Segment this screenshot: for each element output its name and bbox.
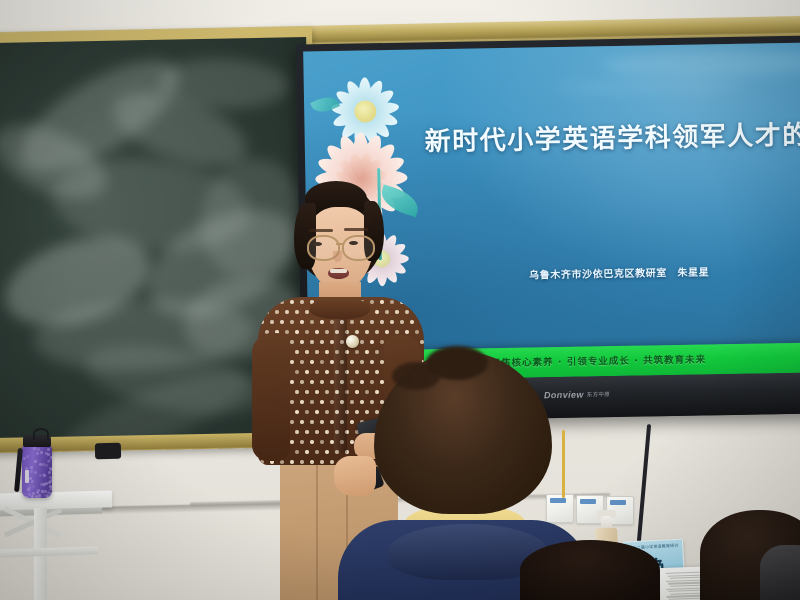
polka-dot [290, 320, 294, 324]
polka-dot [295, 390, 299, 394]
presenter-teeth [330, 269, 347, 273]
polka-dot [320, 320, 324, 324]
polka-dot [305, 390, 309, 394]
polka-dot [380, 300, 384, 304]
polka-dot [300, 440, 304, 444]
polka-dot [295, 330, 299, 334]
eyeglasses-lens-right [342, 235, 375, 261]
glitter-speck [35, 496, 38, 498]
polka-dot [365, 330, 369, 334]
glitter-speck [38, 496, 41, 498]
polka-dot [305, 410, 309, 414]
polka-dot [275, 310, 279, 314]
polka-dot [300, 420, 304, 424]
polka-dot [405, 330, 409, 334]
glitter-speck [23, 457, 26, 460]
polka-dot [375, 330, 379, 334]
polka-dot [300, 460, 304, 464]
glitter-speck [46, 495, 49, 498]
presenter-nose [333, 251, 342, 262]
student-hair-tuft-2 [392, 362, 440, 390]
blouse-placket [334, 313, 347, 453]
glitter-speck [47, 460, 50, 463]
polka-dot [270, 320, 274, 324]
slide-title: 新时代小学英语学科领军人才的成长路径 [424, 113, 800, 159]
polka-dot [400, 320, 404, 324]
polka-dot [290, 400, 294, 404]
glitter-speck [36, 452, 39, 455]
presenter-arm-left [252, 333, 290, 461]
polka-dot [310, 360, 314, 364]
student-hand [334, 456, 376, 496]
polka-dot [315, 350, 319, 354]
polka-dot [315, 430, 319, 434]
glitter-speck [47, 448, 50, 451]
polka-dot [300, 340, 304, 344]
polka-dot [315, 410, 319, 414]
polka-dot [400, 300, 404, 304]
switch-label-icon-3 [610, 500, 626, 505]
flower-center [354, 100, 376, 122]
polka-dot [320, 420, 324, 424]
trouser-pleat-left [316, 461, 318, 600]
presenter-eyebrow-left [309, 229, 333, 232]
polka-dot [355, 330, 359, 334]
polka-dot [360, 320, 364, 324]
glitter-speck [48, 471, 51, 474]
glitter-speck [30, 470, 33, 473]
glitter-speck [25, 496, 28, 498]
polka-dot [360, 340, 364, 344]
polka-dot [310, 340, 314, 344]
polka-dot [300, 300, 304, 304]
blouse-collar [310, 297, 370, 319]
screen-glare-2 [554, 78, 744, 95]
polka-dot [270, 300, 274, 304]
polka-dot [260, 460, 264, 464]
chalk-holder-icon [95, 443, 121, 459]
classroom-photo-scene: 新时代小学英语学科领军人才的成长路径 乌鲁木齐市沙依巴克区教研室 朱星星 聚焦核… [0, 0, 800, 600]
polka-dot [300, 400, 304, 404]
glitter-speck [49, 492, 52, 495]
polka-dot [325, 430, 329, 434]
polka-dot [290, 460, 294, 464]
polka-dot [285, 330, 289, 334]
polka-dot [315, 370, 319, 374]
polka-dot [390, 300, 394, 304]
polka-dot [385, 310, 389, 314]
polka-dot [285, 310, 289, 314]
glitter-speck [40, 451, 43, 454]
polka-dot [290, 300, 294, 304]
polka-dot [325, 390, 329, 394]
polka-dot [260, 320, 264, 324]
polka-dot [300, 360, 304, 364]
glitter-speck [34, 460, 37, 463]
polka-dot [290, 440, 294, 444]
glitter-speck [31, 495, 34, 498]
polka-dot [420, 320, 424, 324]
glitter-speck [41, 490, 44, 493]
glitter-speck [50, 496, 52, 498]
glitter-speck [31, 480, 34, 483]
polka-dot [395, 330, 399, 334]
polka-dot [320, 360, 324, 364]
polka-dot [300, 380, 304, 384]
display-brand-sub: 东方中原 [587, 392, 610, 398]
glitter-speck [48, 481, 51, 484]
polka-dot [370, 340, 374, 344]
polka-dot [315, 450, 319, 454]
polka-dot [370, 300, 374, 304]
glitter-speck [28, 486, 31, 489]
polka-dot [310, 400, 314, 404]
glitter-speck [39, 474, 42, 477]
polka-dot [295, 370, 299, 374]
polka-dot [420, 340, 424, 344]
screen-glare [603, 48, 800, 78]
polka-dot [415, 330, 419, 334]
polka-dot [260, 300, 264, 304]
polka-dot [330, 460, 334, 464]
polka-dot [265, 310, 269, 314]
polka-dot [300, 320, 304, 324]
glitter-speck [45, 464, 48, 467]
polka-dot [320, 400, 324, 404]
polka-dot [305, 330, 309, 334]
water-bottle-handle[interactable] [33, 428, 49, 440]
polka-dot [325, 350, 329, 354]
student-far-right-shoulder [760, 545, 800, 600]
polka-dot [410, 320, 414, 324]
glitter-speck [30, 466, 33, 469]
polka-dot [295, 350, 299, 354]
polka-dot [310, 420, 314, 424]
polka-dot [325, 370, 329, 374]
polka-dot [295, 410, 299, 414]
polka-dot [305, 310, 309, 314]
polka-dot [395, 310, 399, 314]
slide-subtitle: 乌鲁木齐市沙依巴克区教研室 朱星星 [529, 263, 709, 281]
polka-dot [390, 320, 394, 324]
polka-dot [305, 450, 309, 454]
polka-dot [315, 390, 319, 394]
eyeglasses-bridge [336, 243, 344, 245]
polka-dot [290, 360, 294, 364]
polka-dot [385, 330, 389, 334]
polka-dot [290, 380, 294, 384]
glitter-speck [26, 455, 29, 458]
glitter-speck [34, 471, 37, 474]
glitter-speck [36, 491, 39, 494]
polka-dot [320, 340, 324, 344]
polka-dot [380, 340, 384, 344]
polka-dot [415, 310, 419, 314]
polka-dot [320, 440, 324, 444]
polka-dot [295, 430, 299, 434]
polka-dot [305, 370, 309, 374]
polka-dot [290, 420, 294, 424]
polka-dot [305, 430, 309, 434]
polka-dot [310, 460, 314, 464]
polka-dot [320, 380, 324, 384]
polka-dot [310, 380, 314, 384]
polka-dot [325, 330, 329, 334]
polka-dot [305, 350, 309, 354]
glitter-speck [50, 468, 52, 471]
glitter-speck [33, 447, 36, 450]
polka-dot [315, 330, 319, 334]
glitter-speck [50, 487, 52, 490]
presenter-eyebrow-right [344, 228, 368, 231]
polka-dot [375, 310, 379, 314]
polka-dot [295, 310, 299, 314]
polka-dot [350, 320, 354, 324]
brooch-icon [346, 335, 359, 348]
polka-dot [380, 320, 384, 324]
switch-label-icon-2 [580, 499, 596, 504]
glitter-speck [32, 492, 35, 495]
polka-dot [280, 320, 284, 324]
polka-dot [310, 440, 314, 444]
polka-dot [370, 320, 374, 324]
polka-dot [325, 410, 329, 414]
polka-dot [410, 300, 414, 304]
polka-dot [320, 460, 324, 464]
glitter-speck [45, 482, 48, 485]
polka-dot [280, 300, 284, 304]
polka-dot [295, 450, 299, 454]
polka-dot [310, 320, 314, 324]
polka-dot [405, 310, 409, 314]
polka-dot [420, 300, 424, 304]
water-bottle-label [25, 470, 29, 483]
polka-dot [325, 450, 329, 454]
student-left-head [520, 540, 660, 600]
glitter-speck [32, 485, 35, 488]
polka-dot [290, 340, 294, 344]
